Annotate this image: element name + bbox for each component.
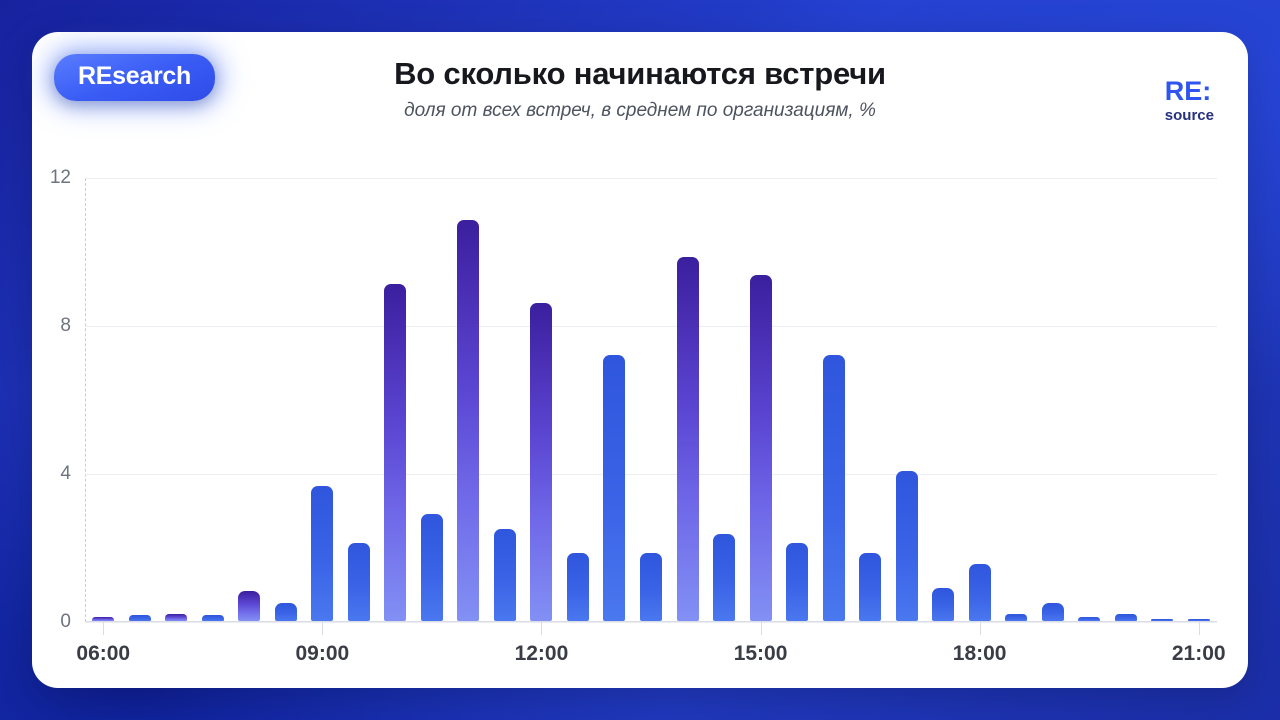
bar-1200 — [530, 303, 552, 621]
gridline — [85, 622, 1217, 623]
y-axis-tick-label: 12 — [50, 167, 71, 189]
bar-1800 — [969, 564, 991, 621]
x-axis-tick — [103, 622, 104, 635]
bar-2000 — [1115, 614, 1137, 621]
bar-1500 — [750, 275, 772, 621]
x-axis-baseline — [85, 621, 1217, 622]
chart-card: REsearch RE: source Во сколько начинаютс… — [32, 32, 1248, 688]
x-axis-tick-label: 09:00 — [295, 642, 349, 666]
research-badge-label: REsearch — [78, 62, 191, 90]
bar-1030 — [421, 514, 443, 621]
bar-1230 — [567, 553, 589, 621]
bar-0800 — [238, 591, 260, 621]
bar-1430 — [713, 534, 735, 621]
chart-subtitle: доля от всех встреч, в среднем по органи… — [32, 100, 1248, 122]
plot-area: 04812 06:0009:0012:0015:0018:0021:00 — [85, 178, 1217, 622]
bar-0930 — [348, 543, 370, 621]
x-axis-tick — [761, 622, 762, 635]
bar-1400 — [677, 257, 699, 621]
bar-1630 — [859, 553, 881, 621]
x-axis-tick — [322, 622, 323, 635]
bar-1730 — [932, 588, 954, 621]
bar-0830 — [275, 603, 297, 622]
x-axis-tick-label: 06:00 — [76, 642, 130, 666]
x-axis-tick-label: 12:00 — [515, 642, 569, 666]
bar-1000 — [384, 284, 406, 621]
bar-1100 — [457, 220, 479, 621]
bar-1600 — [823, 355, 845, 621]
bar-1830 — [1005, 614, 1027, 621]
bar-1130 — [494, 529, 516, 622]
y-axis-tick-label: 4 — [60, 463, 71, 485]
x-axis-tick — [541, 622, 542, 635]
bar-1300 — [603, 355, 625, 621]
bar-0900 — [311, 486, 333, 621]
bar-0700 — [165, 614, 187, 621]
x-axis-tick — [980, 622, 981, 635]
bar-1330 — [640, 553, 662, 621]
y-axis-tick-label: 8 — [60, 315, 71, 337]
x-axis-tick-label: 18:00 — [953, 642, 1007, 666]
x-axis-tick-label: 21:00 — [1172, 642, 1226, 666]
bar-series — [85, 178, 1217, 622]
bar-1530 — [786, 543, 808, 621]
bar-1700 — [896, 471, 918, 621]
x-axis-tick — [1199, 622, 1200, 635]
x-axis-tick-label: 15:00 — [734, 642, 788, 666]
bar-1900 — [1042, 603, 1064, 622]
y-axis-tick-label: 0 — [60, 611, 71, 633]
research-badge: REsearch — [54, 54, 215, 101]
